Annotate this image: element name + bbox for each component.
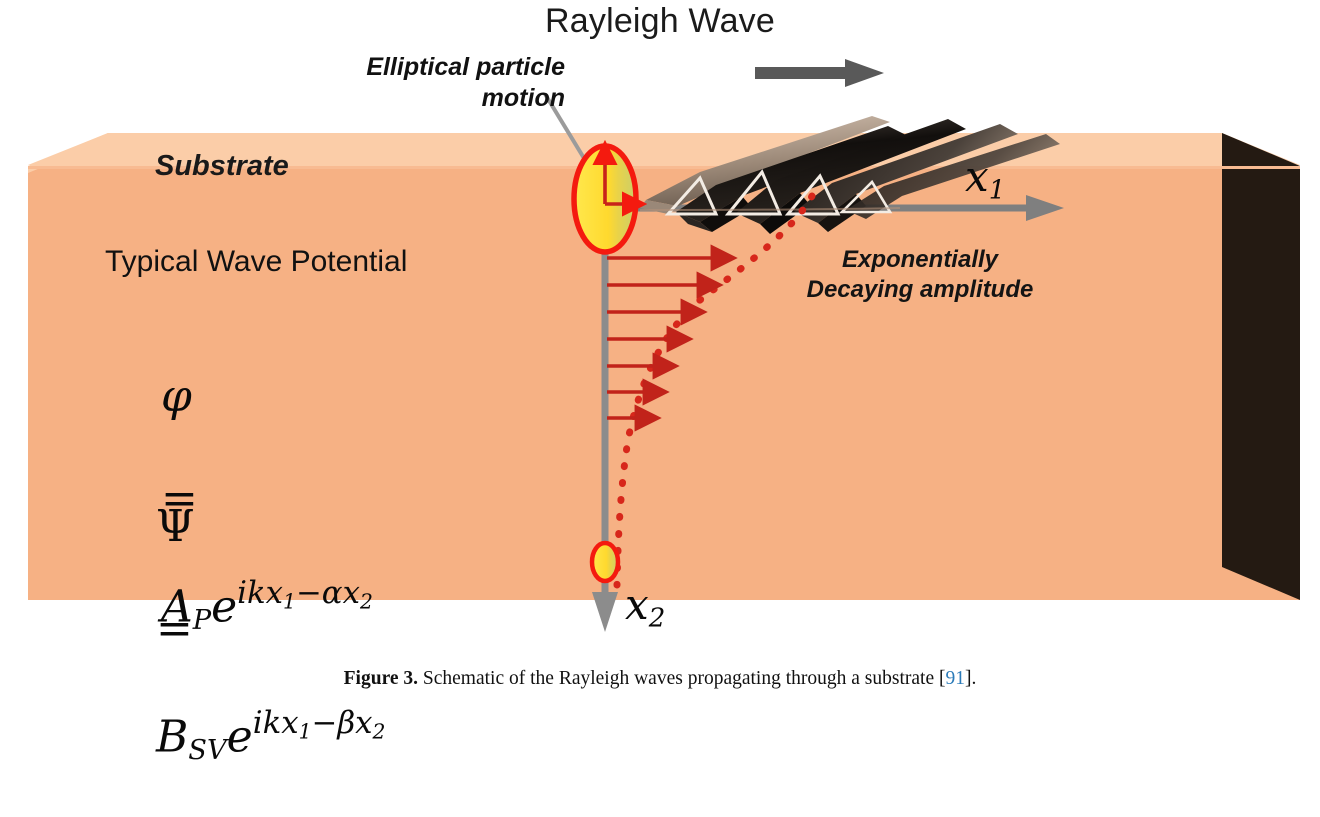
eq-phi-lhs: φ — [161, 371, 192, 422]
substrate-side-face — [1222, 133, 1300, 600]
label-substrate: Substrate — [155, 150, 289, 183]
figure-caption: Figure 3. Schematic of the Rayleigh wave… — [0, 668, 1320, 690]
axis-label-x1-var: x — [965, 152, 989, 201]
particle-motion-ellipse-small — [592, 543, 618, 581]
label-elliptical-particle-motion: Elliptical particle motion — [315, 52, 565, 114]
caption-suffix: ]. — [965, 668, 976, 689]
eq-psi-amplitude: B — [156, 711, 188, 762]
axis-label-x1: x1 — [965, 152, 1005, 205]
figure-title: Rayleigh Wave — [0, 2, 1320, 41]
eq-psi-base: e — [227, 711, 253, 762]
label-exponentially-decaying-amplitude: Exponentially Decaying amplitude — [800, 245, 1040, 305]
eq-psi-amplitude-sub: SV — [188, 735, 226, 766]
eq-psi-exp-sub1: 1 — [299, 719, 312, 743]
axis-label-x2: x2 — [625, 580, 665, 633]
figure-root: Rayleigh Wave Elliptical particle motion… — [0, 0, 1320, 716]
equation-psi: Ψ = BSVeikx1−βx2 — [100, 450, 385, 817]
eq-psi-exp-sub2: 2 — [373, 719, 386, 743]
caption-text: Schematic of the Rayleigh waves propagat… — [418, 668, 945, 689]
axis-label-x2-sub: 2 — [649, 603, 666, 633]
particle-motion-ellipse — [574, 146, 636, 252]
eq-psi-exp-minus: − — [312, 705, 338, 741]
label-typical-wave-potential: Typical Wave Potential — [105, 245, 407, 279]
eq-psi-exp-decay: βx — [337, 705, 372, 741]
axis-label-x2-var: x — [625, 580, 649, 629]
eq-psi-exp-main: ikx — [253, 705, 299, 741]
eq-psi-lhs: Ψ — [156, 501, 195, 552]
caption-citation[interactable]: 91 — [945, 668, 965, 689]
axis-label-x1-sub: 1 — [989, 175, 1006, 205]
eq-psi-equals: = — [156, 603, 193, 654]
caption-label: Figure 3. — [344, 668, 418, 689]
wave-direction-arrow — [755, 59, 884, 87]
